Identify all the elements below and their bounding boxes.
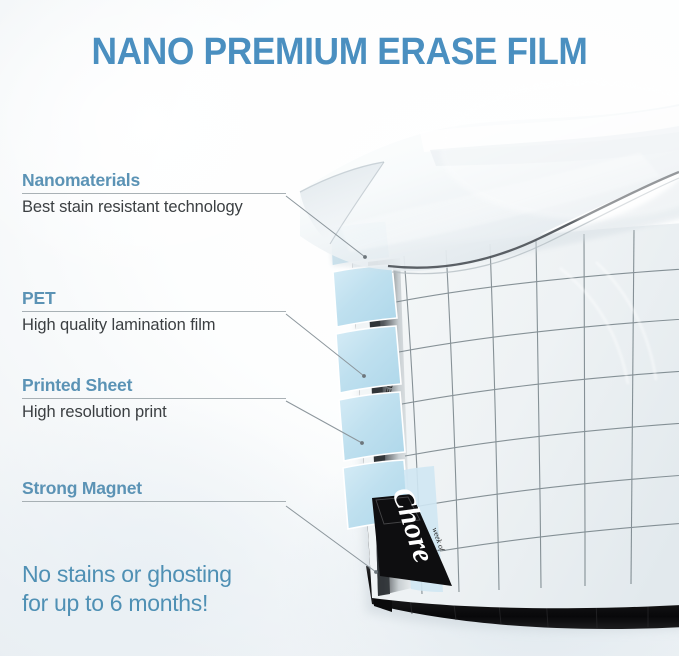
day-label-strip bbox=[368, 258, 412, 596]
note-tile bbox=[333, 265, 397, 327]
day-label-mon: MON bbox=[388, 475, 401, 495]
brand-script-text: Chore bbox=[385, 483, 440, 566]
board-shadow bbox=[356, 230, 679, 631]
leader-line-nanomaterials bbox=[286, 196, 365, 257]
callout-rule bbox=[22, 398, 286, 399]
callout-heading: Strong Magnet bbox=[22, 478, 286, 499]
callout-heading: Nanomaterials bbox=[22, 170, 286, 191]
note-tile bbox=[343, 460, 409, 529]
week-of-text: week of bbox=[430, 526, 447, 553]
note-tile bbox=[339, 392, 405, 461]
day-label-tue: TUE bbox=[385, 428, 398, 446]
callout-strong-magnet: Strong Magnet bbox=[22, 478, 286, 502]
photo-highlight bbox=[440, 80, 679, 220]
note-tiles bbox=[330, 221, 409, 529]
leader-dot-pet bbox=[362, 374, 366, 378]
note-tile bbox=[336, 326, 401, 393]
week-of-column bbox=[404, 466, 443, 592]
callout-pet: PET High quality lamination film bbox=[22, 288, 286, 335]
calendar-grid bbox=[396, 226, 679, 594]
callout-nanomaterials: Nanomaterials Best stain resistant techn… bbox=[22, 170, 286, 217]
page-title: NANO PREMIUM ERASE FILM bbox=[24, 30, 655, 74]
board-surface bbox=[330, 200, 679, 630]
callout-rule bbox=[22, 501, 286, 502]
day-labels: SAT FRI THU WED TUE MON SUN bbox=[373, 263, 404, 545]
infographic-canvas: SAT FRI THU WED TUE MON SUN bbox=[0, 0, 679, 656]
leader-line-pet bbox=[286, 314, 364, 376]
day-label-fri: FRI bbox=[377, 300, 389, 315]
callout-heading: Printed Sheet bbox=[22, 375, 286, 396]
magnet-backing bbox=[352, 258, 679, 629]
tagline-line-1: No stains or ghosting bbox=[22, 560, 352, 589]
brand-footer-band: Chore bbox=[372, 483, 452, 586]
callout-printed-sheet: Printed Sheet High resolution print bbox=[22, 375, 286, 422]
peeling-film bbox=[300, 104, 679, 384]
callout-rule bbox=[22, 193, 286, 194]
leader-line-printed-sheet bbox=[286, 401, 362, 443]
leader-dot-printed-sheet bbox=[360, 441, 364, 445]
note-tile bbox=[330, 221, 390, 266]
callout-body: High resolution print bbox=[22, 402, 286, 422]
day-label-sun: SUN bbox=[391, 526, 404, 545]
callout-body: Best stain resistant technology bbox=[22, 197, 286, 217]
callout-body: High quality lamination film bbox=[22, 315, 286, 335]
callout-heading: PET bbox=[22, 288, 286, 309]
day-label-wed: WED bbox=[382, 381, 395, 402]
leader-dot-nanomaterials bbox=[363, 255, 367, 259]
day-label-thu: THU bbox=[379, 338, 392, 356]
callout-rule bbox=[22, 311, 286, 312]
day-label-sat: SAT bbox=[373, 263, 386, 280]
leader-dot-strong-magnet bbox=[374, 570, 378, 574]
tagline: No stains or ghosting for up to 6 months… bbox=[22, 560, 352, 618]
tagline-line-2: for up to 6 months! bbox=[22, 589, 352, 618]
